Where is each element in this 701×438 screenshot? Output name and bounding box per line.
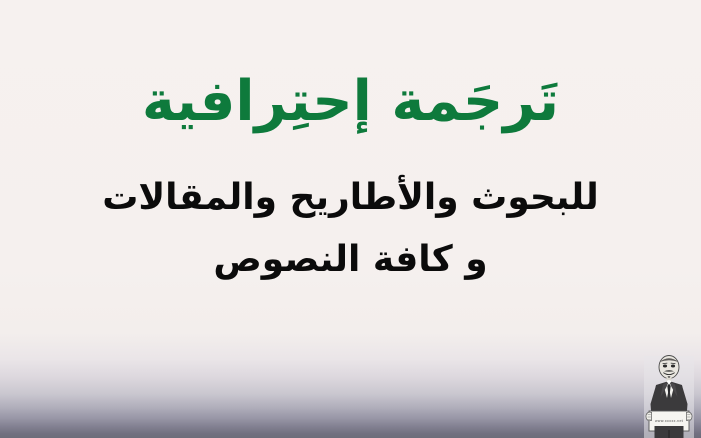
subtitle-line-2: و كافة النصوص (0, 238, 701, 282)
masked-man-figure: www.xxxxx.net (638, 354, 700, 438)
text-block: تَرجَمة إحتِرافية للبحوث والأطاريح والمق… (0, 70, 701, 282)
slide-canvas: تَرجَمة إحتِرافية للبحوث والأطاريح والمق… (0, 0, 701, 438)
subtitle-line-1: للبحوث والأطاريح والمقالات (0, 176, 701, 220)
page-title: تَرجَمة إحتِرافية (0, 70, 701, 134)
masked-man-illustration (638, 354, 700, 438)
